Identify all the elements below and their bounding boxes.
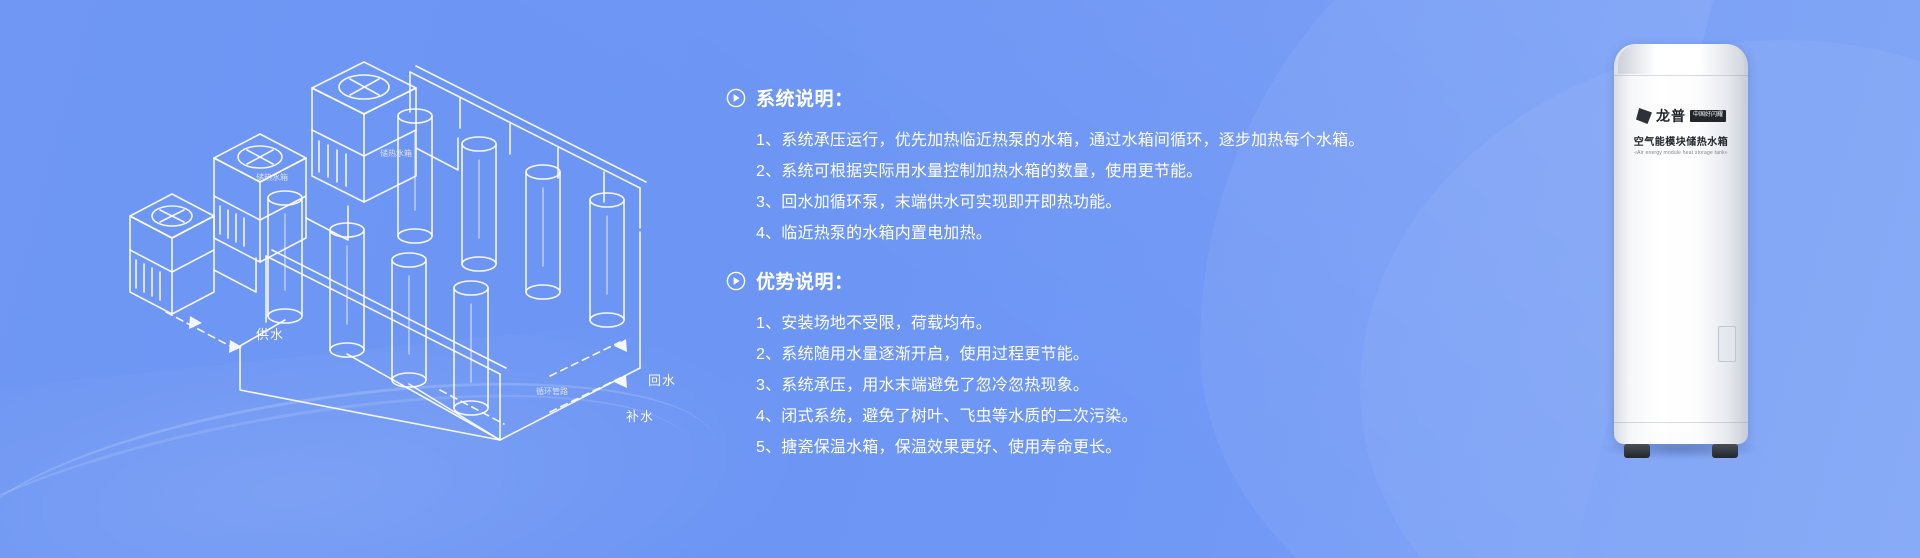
brand-badge: 中国好闪耀 [1690, 110, 1726, 122]
list-item: 4、临近热泵的水箱内置电加热。 [756, 218, 1326, 249]
product-image: 龙普 中国好闪耀 空气能模块储热水箱 «Air energy module he… [1614, 30, 1748, 454]
flow-arrows [166, 312, 620, 412]
diagram-label-pipe-note: 循环管路 [536, 386, 568, 397]
diagram-label-makeup: 补水 [626, 406, 654, 425]
section-advantage-description: 优势说明： 1、安装场地不受限，荷载均布。 2、系统随用水量逐渐开启，使用过程更… [726, 267, 1326, 463]
product-model-cn: 空气能模块储热水箱 [1614, 133, 1748, 148]
list-item: 5、搪瓷保温水箱，保温效果更好、使用寿命更长。 [756, 432, 1326, 463]
upper-manifold [410, 66, 646, 228]
bottom-pipe-run [240, 232, 640, 440]
heat-pump-unit-2 [214, 134, 306, 262]
list-item: 2、系统可根据实际用水量控制加热水箱的数量，使用更节能。 [756, 156, 1326, 187]
play-circle-icon [726, 88, 746, 108]
system-schematic-diagram: 供水 回水 补水 储热水箱 储热水箱 循环管路 [80, 20, 740, 490]
list-item: 1、系统承压运行，优先加热临近热泵的水箱，通过水箱间循环，逐步加热每个水箱。 [756, 125, 1326, 156]
tank-seam-bottom [1614, 422, 1748, 423]
makeup-arrow [440, 390, 504, 424]
water-tank-body: 龙普 中国好闪耀 空气能模块储热水箱 «Air energy module he… [1614, 44, 1748, 444]
brand-name: 龙普 [1656, 106, 1686, 126]
list-item: 4、闭式系统，避免了树叶、飞虫等水质的二次污染。 [756, 401, 1326, 432]
diagram-label-return: 回水 [648, 370, 676, 389]
section-system-description: 系统说明： 1、系统承压运行，优先加热临近热泵的水箱，通过水箱间循环，逐步加热每… [726, 84, 1326, 249]
product-model-en: «Air energy module heat storage tank» [1614, 150, 1748, 156]
section-title-system: 系统说明： [756, 84, 854, 111]
tank-foot-right [1712, 444, 1738, 458]
control-panel [1718, 326, 1736, 362]
list-item: 3、回水加循环泵，末端供水可实现即开即热功能。 [756, 187, 1326, 218]
section-list-system: 1、系统承压运行，优先加热临近热泵的水箱，通过水箱间循环，逐步加热每个水箱。 2… [726, 125, 1326, 249]
heat-pump-unit-1 [130, 194, 214, 314]
list-item: 2、系统随用水量逐渐开启，使用过程更节能。 [756, 339, 1326, 370]
section-title-advantage: 优势说明： [756, 267, 854, 294]
brand-row: 龙普 中国好闪耀 [1614, 106, 1748, 126]
diagram-label-supply: 供水 [256, 324, 284, 343]
tank-foot-left [1624, 444, 1650, 458]
description-copy: 系统说明： 1、系统承压运行，优先加热临近热泵的水箱，通过水箱间循环，逐步加热每… [726, 84, 1326, 475]
section-header-advantage: 优势说明： [726, 267, 1326, 294]
diagram-label-tank-note-2: 储热水箱 [380, 148, 412, 159]
section-header-system: 系统说明： [726, 84, 1326, 111]
brand-logo-icon [1636, 108, 1652, 124]
product-banner: 供水 回水 补水 储热水箱 储热水箱 循环管路 系统说明： 1、系统承压运行，优… [0, 0, 1920, 558]
section-list-advantage: 1、安装场地不受限，荷载均布。 2、系统随用水量逐渐开启，使用过程更节能。 3、… [726, 308, 1326, 463]
play-circle-icon [726, 271, 746, 291]
list-item: 3、系统承压，用水末端避免了忽冷忽热现象。 [756, 370, 1326, 401]
tank-seam-top [1614, 75, 1748, 76]
heat-pump-unit-3 [312, 62, 416, 202]
list-item: 1、安装场地不受限，荷载均布。 [756, 308, 1326, 339]
water-tank-top-cap [1618, 44, 1744, 74]
diagram-label-tank-note-1: 储热水箱 [256, 172, 288, 183]
storage-tank-back-row [398, 109, 624, 327]
brand-block: 龙普 中国好闪耀 空气能模块储热水箱 «Air energy module he… [1614, 106, 1748, 156]
